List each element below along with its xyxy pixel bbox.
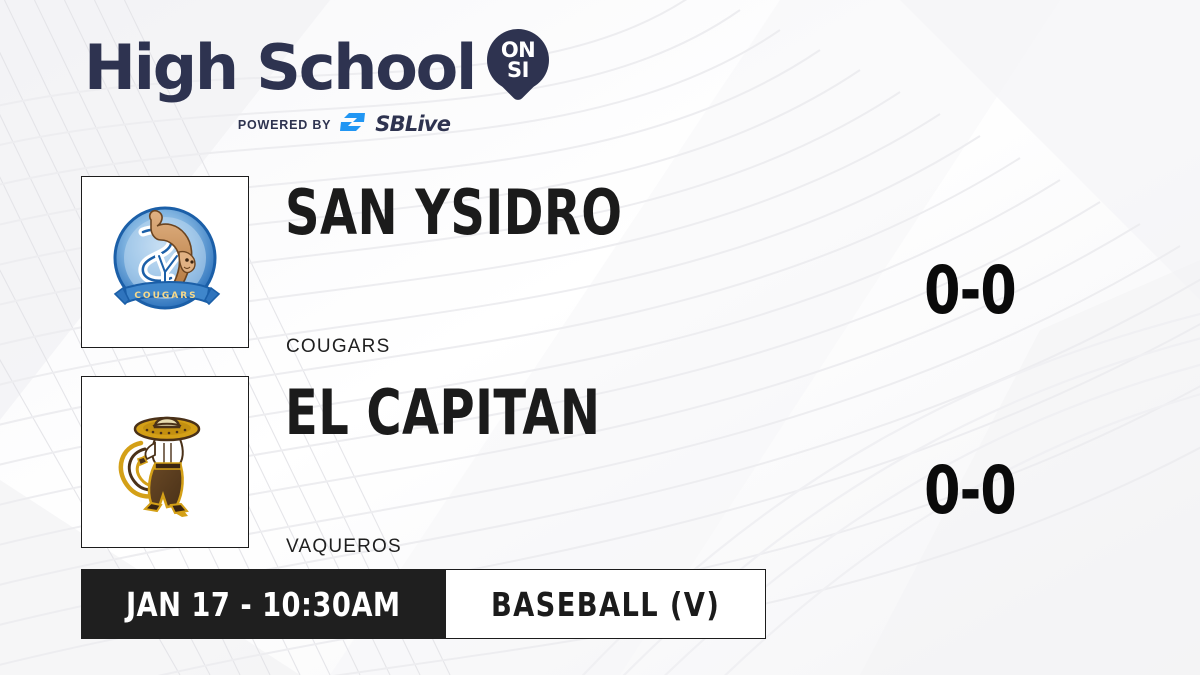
svg-text:COUGARS: COUGARS xyxy=(134,291,197,301)
team-name: SAN YSIDRO xyxy=(285,182,622,244)
team-logo-el-capitan xyxy=(81,376,249,548)
team-score: 0-0 xyxy=(893,258,1048,324)
team-mascot: VAQUEROS xyxy=(286,536,402,558)
game-sport: BASEBALL (V) xyxy=(446,569,766,639)
team-name: EL CAPITAN xyxy=(285,382,600,444)
pin-line-1: ON xyxy=(501,40,535,60)
team-mascot: COUGARS xyxy=(286,336,390,358)
brand-title: High School xyxy=(84,36,475,100)
game-datetime-text: JAN 17 - 10:30AM xyxy=(126,585,401,624)
game-datetime: JAN 17 - 10:30AM xyxy=(81,569,446,639)
sblive-wordmark: SBLive xyxy=(375,114,450,135)
scoreboard-graphic: High School ON SI POWERED BY SBLive xyxy=(0,0,1200,675)
brand-logo-row: High School ON SI xyxy=(84,30,514,106)
pin-line-2: SI xyxy=(507,60,529,80)
powered-by-row: POWERED BY SBLive xyxy=(84,112,514,137)
brand-logo: High School ON SI POWERED BY SBLive xyxy=(84,30,514,140)
team-score: 0-0 xyxy=(893,458,1048,524)
powered-by-label: POWERED BY xyxy=(238,118,331,132)
sblive-s-mark-icon xyxy=(340,112,366,137)
on-si-pin-icon: ON SI xyxy=(487,29,514,107)
team-logo-san-ysidro: COUGARS xyxy=(81,176,249,348)
game-info-bar: JAN 17 - 10:30AM BASEBALL (V) xyxy=(81,569,766,639)
game-sport-text: BASEBALL (V) xyxy=(491,585,720,624)
